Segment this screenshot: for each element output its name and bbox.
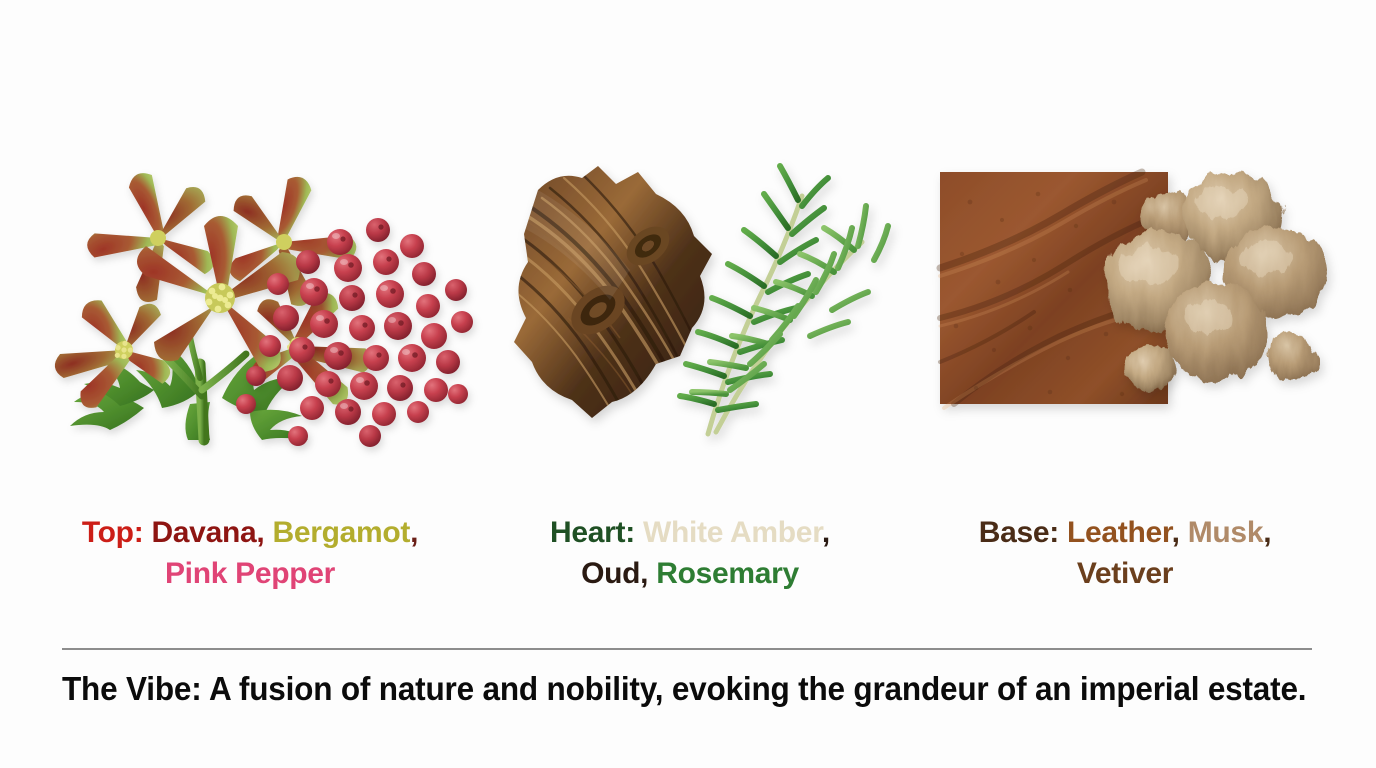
heart-notes-prefix: Heart:	[550, 516, 635, 549]
base-notes-prefix: Base:	[979, 516, 1059, 549]
ingredient-davana: Davana	[151, 516, 256, 549]
ingredient-vetiver: Vetiver	[1077, 557, 1173, 590]
rosemary-sprigs	[680, 166, 888, 434]
vibe-statement: The Vibe: A fusion of nature and nobilit…	[62, 666, 1275, 712]
base-notes-label: Base: Leather, Musk, Vetiver	[905, 512, 1345, 594]
section-divider	[62, 648, 1312, 650]
heart-notes-label: Heart: White Amber, Oud, Rosemary	[470, 512, 910, 594]
top-notes-label: Top: Davana, Bergamot, Pink Pepper	[30, 512, 470, 594]
ingredient-oud: Oud	[581, 557, 640, 590]
fragrance-notes-infographic: Top: Davana, Bergamot, Pink Pepper Heart…	[0, 0, 1376, 768]
musk-puff-small-lower-left	[1124, 346, 1176, 390]
davana-plant-illustration	[39, 153, 385, 440]
ingredient-bergamot: Bergamot	[272, 516, 410, 549]
musk-puff-small-lower-right	[1267, 335, 1317, 381]
base-notes-visual	[910, 150, 1340, 440]
ingredient-white-amber: White Amber	[643, 516, 822, 549]
top-notes-prefix: Top:	[82, 516, 144, 549]
oud-wood-chunk	[500, 166, 712, 430]
base-notes-line-2: Vetiver	[905, 553, 1345, 594]
top-notes-visual	[40, 150, 460, 440]
ingredient-leather: Leather	[1067, 516, 1172, 549]
heart-notes-visual	[480, 150, 900, 440]
heart-notes-line-1: Heart: White Amber,	[470, 512, 910, 553]
note-labels-row: Top: Davana, Bergamot, Pink Pepper Heart…	[0, 512, 1376, 617]
top-notes-line-1: Top: Davana, Bergamot,	[30, 512, 470, 553]
top-notes-line-2: Pink Pepper	[30, 553, 470, 594]
ingredient-rosemary: Rosemary	[656, 557, 799, 590]
note-visuals-row	[0, 150, 1376, 440]
ingredient-musk: Musk	[1188, 516, 1264, 549]
ingredient-pink-pepper: Pink Pepper	[165, 557, 335, 590]
heart-notes-line-2: Oud, Rosemary	[470, 553, 910, 594]
base-notes-line-1: Base: Leather, Musk,	[905, 512, 1345, 553]
